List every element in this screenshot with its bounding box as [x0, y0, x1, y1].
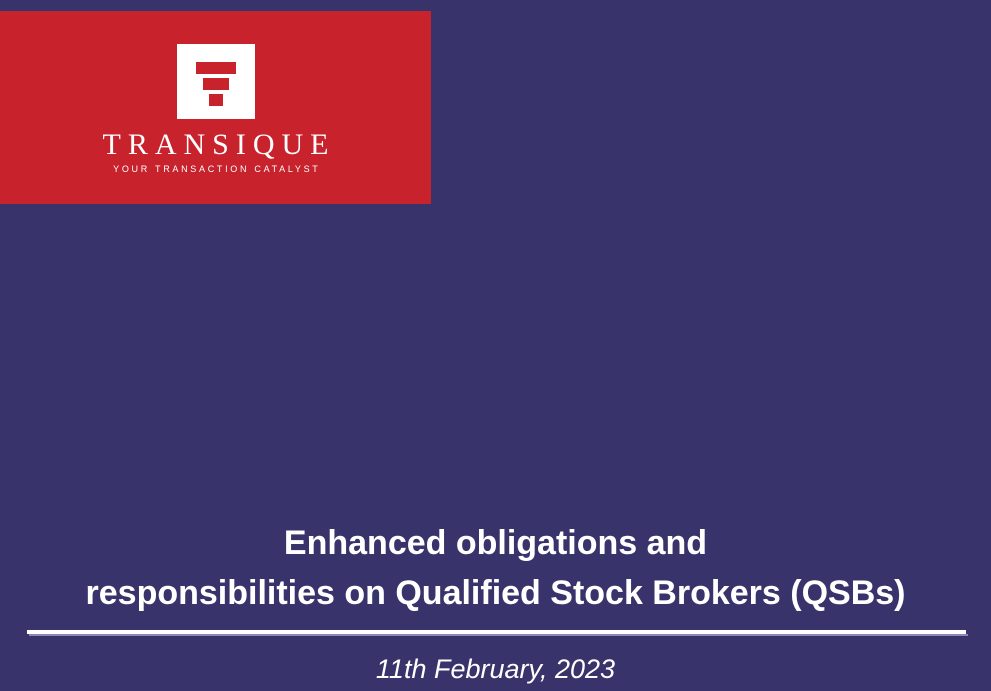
funnel-bar-bottom	[209, 94, 223, 106]
slide-title-line-2: responsibilities on Qualified Stock Brok…	[0, 568, 991, 618]
presentation-title-slide: TRANSIQUE YOUR TRANSACTION CATALYST Enha…	[0, 0, 991, 691]
logo-banner: TRANSIQUE YOUR TRANSACTION CATALYST	[0, 11, 431, 204]
slide-title-line-1: Enhanced obligations and	[0, 518, 991, 568]
slide-title: Enhanced obligations and responsibilitie…	[0, 518, 991, 618]
company-tagline: YOUR TRANSACTION CATALYST	[0, 163, 431, 175]
slide-date: 11th February, 2023	[0, 651, 991, 687]
title-divider	[27, 630, 966, 634]
funnel-bar-top	[196, 62, 236, 74]
transique-funnel-icon	[177, 44, 255, 119]
funnel-bar-middle	[203, 78, 229, 90]
company-wordmark: TRANSIQUE	[0, 128, 431, 162]
